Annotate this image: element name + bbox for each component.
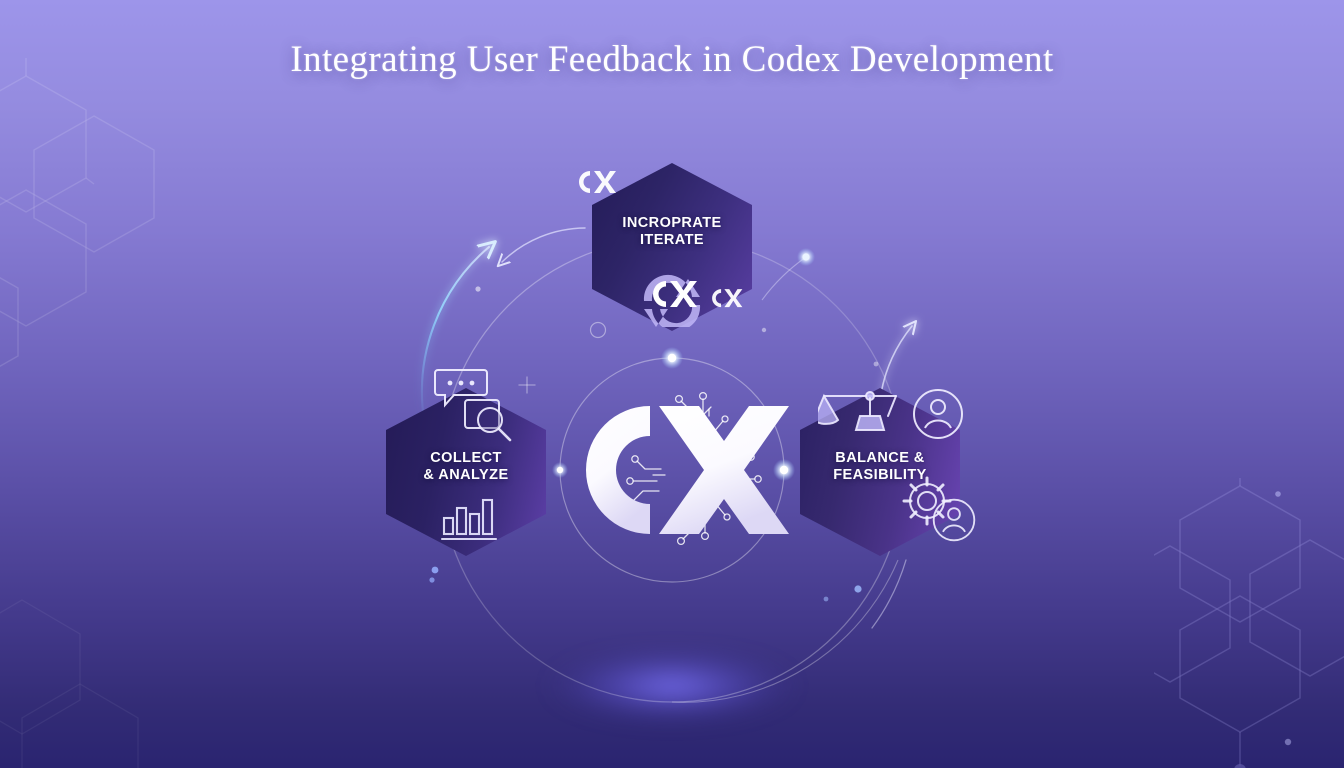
node-label: BALANCE & FEASIBILITY (800, 450, 960, 484)
node-label: COLLECT & ANALYZE (386, 450, 546, 484)
cx-logo-icon (553, 385, 793, 555)
diagram-stage: Integrating User Feedback in Codex Devel… (0, 0, 1344, 768)
node-label: INCROPRATE ITERATE (592, 215, 752, 249)
node-collect-analyze[interactable]: COLLECT & ANALYZE (386, 388, 546, 556)
node-incorporate-iterate[interactable]: INCROPRATE ITERATE (592, 163, 752, 331)
node-balance-feasibility[interactable]: BALANCE & FEASIBILITY (800, 388, 960, 556)
center-cx-logo (553, 385, 793, 555)
orbit-rings-and-arrows (0, 0, 1344, 768)
